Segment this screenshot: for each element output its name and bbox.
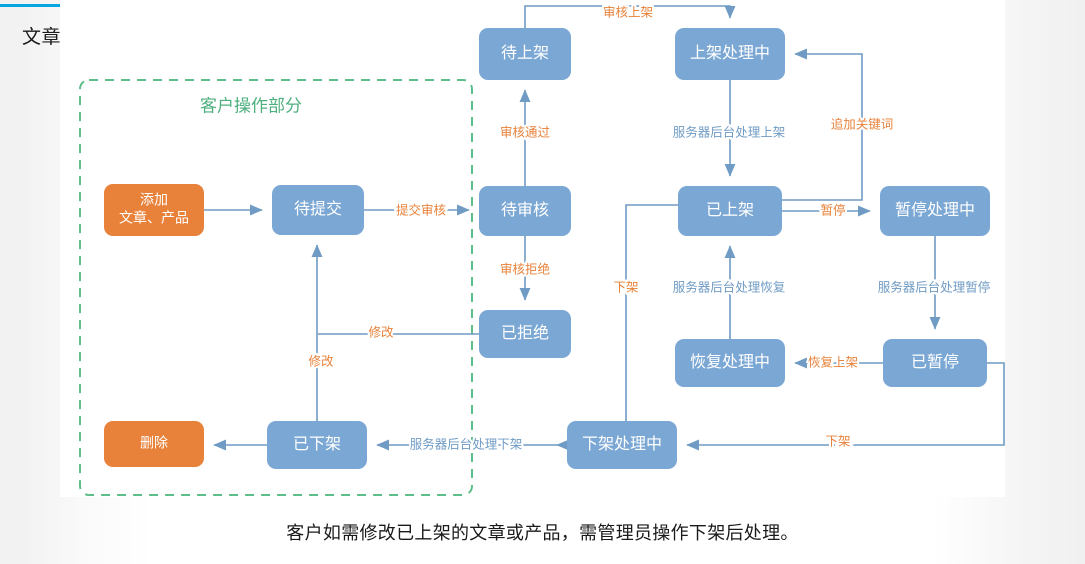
node-label-pending_submit: 待提交 [294,200,342,218]
edge-label-submit_review: 提交审核 [396,202,447,217]
edge-label-resume_list: 恢复上架 [808,355,858,369]
node-delisting[interactable]: 下架处理中 [567,421,677,469]
node-listed[interactable]: 已上架 [678,186,782,236]
edge-label-modify_bottom: 修改 [308,353,334,368]
node-pausing[interactable]: 暂停处理中 [880,186,990,236]
node-resuming[interactable]: 恢复处理中 [675,339,785,387]
node-label-delete: 删除 [140,435,168,451]
node-pending_list[interactable]: 待上架 [479,28,571,80]
edge-label-delist_right: 下架 [825,434,850,448]
flowchart-svg: 客户操作部分 添加文章、产品待提交待审核已拒绝待上架上架处理中已上架暂停处理中恢… [0,0,1085,564]
customer-operation-group-title: 客户操作部分 [200,96,302,115]
edge-label-review_pass: 审核通过 [500,124,551,139]
edge-label-add_keyword: 追加关键词 [831,116,894,131]
edge-label-review_list: 审核上架 [603,4,653,19]
node-label-add: 添加 [140,192,168,208]
node-label-listed: 已上架 [706,201,754,219]
node-label-paused: 已暂停 [911,353,959,371]
node-label-delisting: 下架处理中 [582,435,662,453]
edge-label-review_reject: 审核拒绝 [500,261,550,276]
node-delete[interactable]: 删除 [104,421,204,467]
edge-label-pause: 暂停 [820,202,845,217]
node-label-pausing: 暂停处理中 [895,201,975,219]
page-root: 文章、产品的提交、审核流程： 客户操作部分 添加文章、产品待提交待审核已拒绝待上… [0,0,1085,564]
node-label-delisted: 已下架 [293,435,341,453]
diagram-caption: 客户如需修改已上架的文章或产品，需管理员操作下架后处理。 [0,519,1085,545]
node-label-rejected: 已拒绝 [501,324,549,342]
edge-label-modify_top: 修改 [368,324,394,339]
node-add[interactable]: 添加文章、产品 [104,184,204,236]
node-rejected[interactable]: 已拒绝 [479,310,571,358]
edge-label-delist_left: 下架 [613,280,638,294]
node-paused[interactable]: 已暂停 [883,339,987,387]
node-label-listing: 上架处理中 [690,44,770,62]
node-label-pending_review: 待审核 [501,201,549,219]
node-delisted[interactable]: 已下架 [267,421,367,469]
node-pending_review[interactable]: 待审核 [479,186,571,236]
node-pending_submit[interactable]: 待提交 [272,185,364,235]
edge-label-server_pause: 服务器后台处理暂停 [878,279,991,294]
edge-label-server_resume: 服务器后台处理恢复 [673,279,786,294]
node-listing[interactable]: 上架处理中 [675,28,785,80]
flowchart-canvas: 客户操作部分 添加文章、产品待提交待审核已拒绝待上架上架处理中已上架暂停处理中恢… [0,0,1085,564]
edge-label-server_delist: 服务器后台处理下架 [410,436,523,451]
node-label-pending_list: 待上架 [501,44,549,62]
edge-label-server_list: 服务器后台处理上架 [673,124,786,139]
node-label-resuming: 恢复处理中 [690,353,770,371]
node-label-add: 文章、产品 [119,210,189,226]
